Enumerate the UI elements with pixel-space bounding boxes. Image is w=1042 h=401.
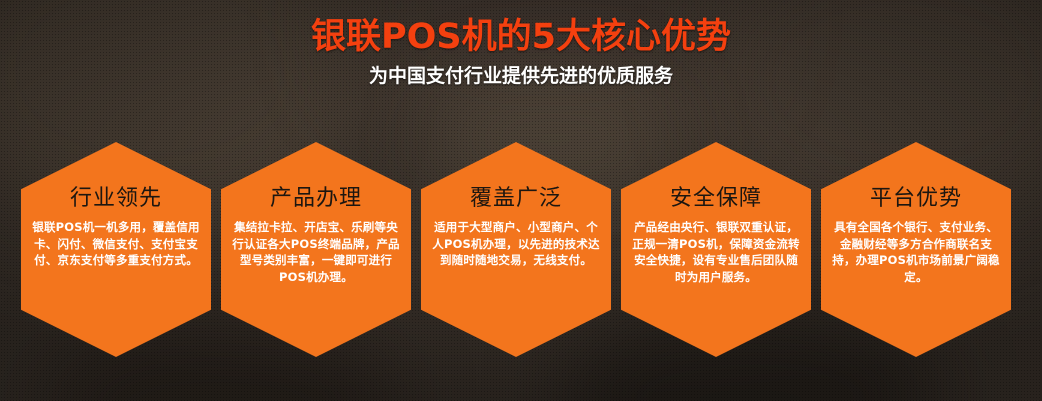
advantage-card-title: 行业领先 [30, 142, 202, 212]
advantage-card-5[interactable]: 平台优势 具有全国各个银行、支付业务、金融财经等多方合作商联名支持，办理POS机… [821, 142, 1011, 357]
advantage-card-3[interactable]: 覆盖广泛 适用于大型商户、小型商户、个人POS机办理，以先进的技术达到随时随地交… [421, 142, 611, 357]
advantage-card-title: 覆盖广泛 [430, 142, 602, 212]
advantage-card-body: 具有全国各个银行、支付业务、金融财经等多方合作商联名支持，办理POS机市场前景广… [830, 219, 1002, 285]
advantage-card-body: 银联POS机一机多用，覆盖信用卡、闪付、微信支付、支付宝支付、京东支付等多重支付… [30, 219, 202, 269]
advantage-card-title: 安全保障 [630, 142, 802, 212]
advantage-card-body: 产品经由央行、银联双重认证，正规一清POS机，保障资金流转安全快捷，设有专业售后… [630, 219, 802, 285]
advantage-card-1[interactable]: 行业领先 银联POS机一机多用，覆盖信用卡、闪付、微信支付、支付宝支付、京东支付… [21, 142, 211, 357]
promo-banner: 银联POS机的5大核心优势 为中国支付行业提供先进的优质服务 行业领先 银联PO… [0, 0, 1042, 401]
heading-block: 银联POS机的5大核心优势 为中国支付行业提供先进的优质服务 [0, 16, 1042, 88]
page-title: 银联POS机的5大核心优势 [0, 16, 1042, 58]
advantage-card-body: 适用于大型商户、小型商户、个人POS机办理，以先进的技术达到随时随地交易，无线支… [430, 219, 602, 269]
advantage-card-title: 平台优势 [830, 142, 1002, 212]
advantage-card-title: 产品办理 [230, 142, 402, 212]
advantage-card-2[interactable]: 产品办理 集结拉卡拉、开店宝、乐刷等央行认证各大POS终端品牌，产品型号类别丰富… [221, 142, 411, 357]
advantage-card-4[interactable]: 安全保障 产品经由央行、银联双重认证，正规一清POS机，保障资金流转安全快捷，设… [621, 142, 811, 357]
advantage-hexagon-row: 行业领先 银联POS机一机多用，覆盖信用卡、闪付、微信支付、支付宝支付、京东支付… [21, 142, 1021, 357]
advantage-card-body: 集结拉卡拉、开店宝、乐刷等央行认证各大POS终端品牌，产品型号类别丰富，一键即可… [230, 219, 402, 285]
page-subtitle: 为中国支付行业提供先进的优质服务 [0, 64, 1042, 88]
